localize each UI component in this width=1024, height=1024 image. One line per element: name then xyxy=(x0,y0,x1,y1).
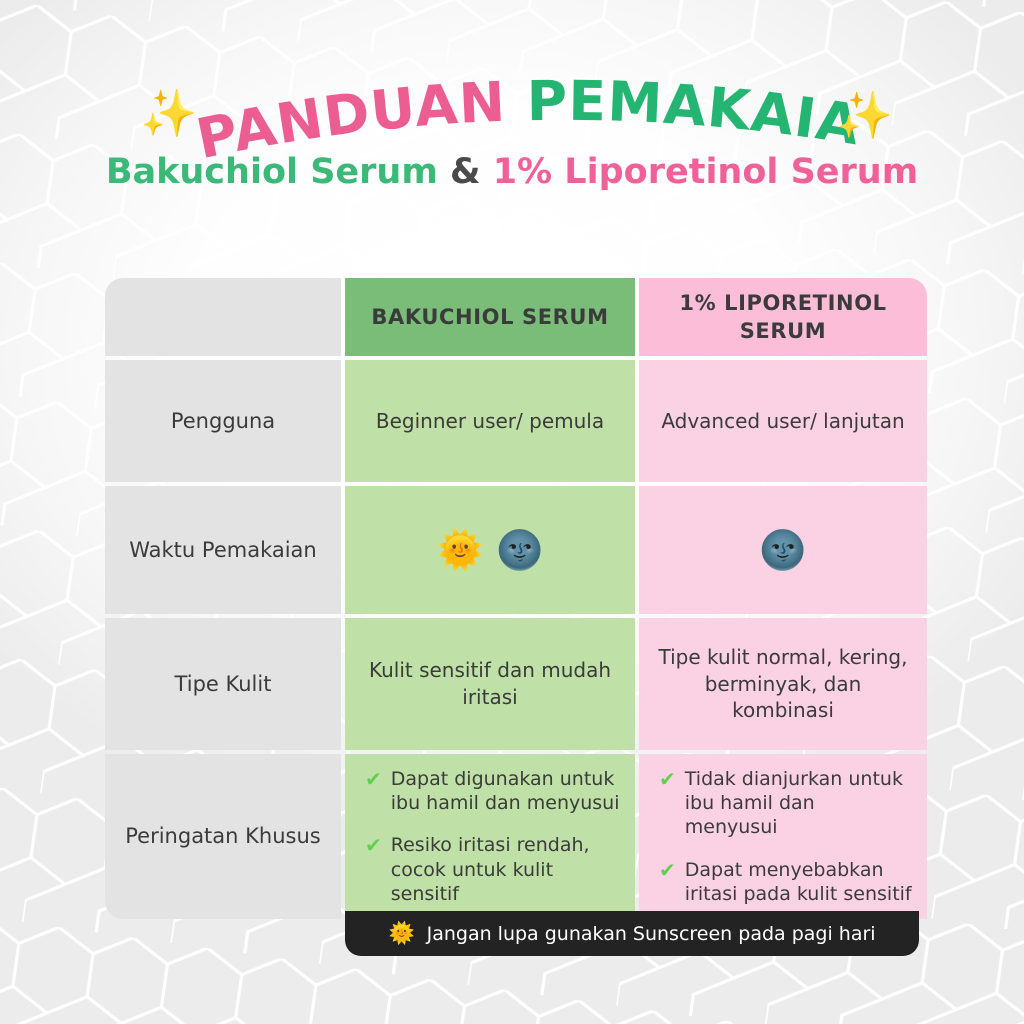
title-text: PANDUAN PEMAKAIAN xyxy=(0,11,865,171)
check-icon: ✔ xyxy=(659,858,676,883)
row-label-pengguna: Pengguna xyxy=(105,360,341,482)
cell-tipe-kulit-bakuchiol: Kulit sensitif dan mudah iritasi xyxy=(345,618,635,750)
bullet-item: ✔ Dapat menyebabkan iritasi pada kulit s… xyxy=(659,858,913,907)
cell-tipe-kulit-liporetinol: Tipe kulit normal, kering, berminyak, da… xyxy=(639,618,927,750)
sun-with-face-icon: 🌞 xyxy=(437,531,484,569)
bullet-item: ✔ Tidak dianjurkan untuk ibu hamil dan m… xyxy=(659,767,913,840)
bullet-list-bakuchiol: ✔ Dapat digunakan untuk ibu hamil dan me… xyxy=(359,767,621,907)
table-header-blank xyxy=(105,278,341,356)
cell-waktu-bakuchiol: 🌞 🌚 xyxy=(345,486,635,614)
table-header-liporetinol: 1% LIPORETINOL SERUM xyxy=(639,278,927,356)
emoji-group-bakuchiol: 🌞 🌚 xyxy=(437,531,544,569)
sun-with-face-icon: 🌞 xyxy=(388,923,414,944)
check-icon: ✔ xyxy=(365,833,382,858)
bullet-list-liporetinol: ✔ Tidak dianjurkan untuk ibu hamil dan m… xyxy=(653,767,913,907)
row-label-peringatan-khusus: Peringatan Khusus xyxy=(105,754,341,919)
new-moon-face-icon: 🌚 xyxy=(496,531,543,569)
row-label-waktu-pemakaian: Waktu Pemakaian xyxy=(105,486,341,614)
cell-peringatan-bakuchiol: ✔ Dapat digunakan untuk ibu hamil dan me… xyxy=(345,754,635,919)
subtitle-product-left: Bakuchiol Serum xyxy=(106,152,438,192)
emoji-group-liporetinol: 🌚 xyxy=(759,531,806,569)
row-label-tipe-kulit: Tipe Kulit xyxy=(105,618,341,750)
subtitle: Bakuchiol Serum & 1% Liporetinol Serum xyxy=(0,152,1024,192)
sparkles-icon-left: ✨ xyxy=(140,90,197,136)
check-icon: ✔ xyxy=(365,767,382,792)
cell-pengguna-bakuchiol: Beginner user/ pemula xyxy=(345,360,635,482)
cell-pengguna-liporetinol: Advanced user/ lanjutan xyxy=(639,360,927,482)
bullet-text: Resiko iritasi rendah, cocok untuk kulit… xyxy=(391,833,621,906)
bullet-item: ✔ Resiko iritasi rendah, cocok untuk kul… xyxy=(365,833,621,906)
bullet-text: Dapat menyebabkan iritasi pada kulit sen… xyxy=(685,858,913,907)
comparison-table: BAKUCHIOL SERUM 1% LIPORETINOL SERUM Pen… xyxy=(105,278,919,919)
sparkles-icon-right: ✨ xyxy=(836,92,893,138)
cell-peringatan-liporetinol: ✔ Tidak dianjurkan untuk ibu hamil dan m… xyxy=(639,754,927,919)
table-header-bakuchiol: BAKUCHIOL SERUM xyxy=(345,278,635,356)
bullet-text: Dapat digunakan untuk ibu hamil dan meny… xyxy=(391,767,621,816)
subtitle-product-right: 1% Liporetinol Serum xyxy=(493,152,918,192)
sunscreen-reminder-text: Jangan lupa gunakan Sunscreen pada pagi … xyxy=(427,923,876,945)
new-moon-face-icon: 🌚 xyxy=(759,531,806,569)
check-icon: ✔ xyxy=(659,767,676,792)
subtitle-ampersand: & xyxy=(450,152,481,192)
cell-waktu-liporetinol: 🌚 xyxy=(639,486,927,614)
bullet-text: Tidak dianjurkan untuk ibu hamil dan men… xyxy=(685,767,913,840)
bullet-item: ✔ Dapat digunakan untuk ibu hamil dan me… xyxy=(365,767,621,816)
infographic-page: PANDUAN PEMAKAIAN ✨ ✨ Bakuchiol Serum & … xyxy=(0,0,1024,1024)
sunscreen-reminder-banner: 🌞 Jangan lupa gunakan Sunscreen pada pag… xyxy=(345,911,919,956)
